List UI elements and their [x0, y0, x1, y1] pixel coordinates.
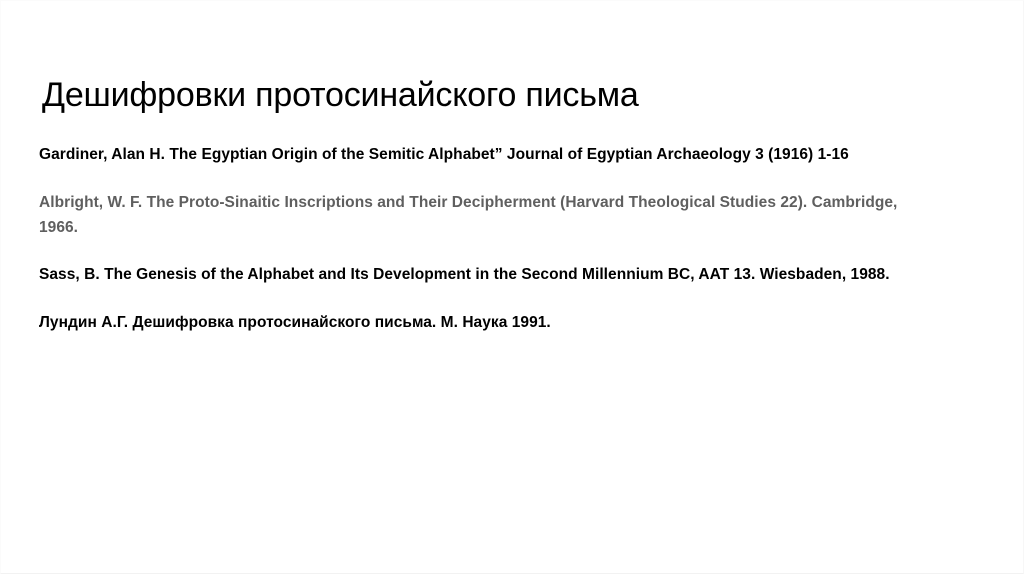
reference-item-lundin: Лундин А.Г. Дешифровка протосинайского п…: [39, 310, 739, 335]
reference-item-gardiner: Gardiner, Alan H. The Egyptian Origin of…: [39, 142, 990, 167]
reference-list: Gardiner, Alan H. The Egyptian Origin of…: [39, 142, 991, 335]
reference-item-sass: Sass, B. The Genesis of the Alphabet and…: [39, 262, 979, 287]
slide-canvas: Дешифровки протосинайского письма Gardin…: [0, 0, 1024, 574]
page-title: Дешифровки протосинайского письма: [42, 74, 982, 116]
reference-item-albright: Albright, W. F. The Proto-Sinaitic Inscr…: [39, 190, 929, 240]
